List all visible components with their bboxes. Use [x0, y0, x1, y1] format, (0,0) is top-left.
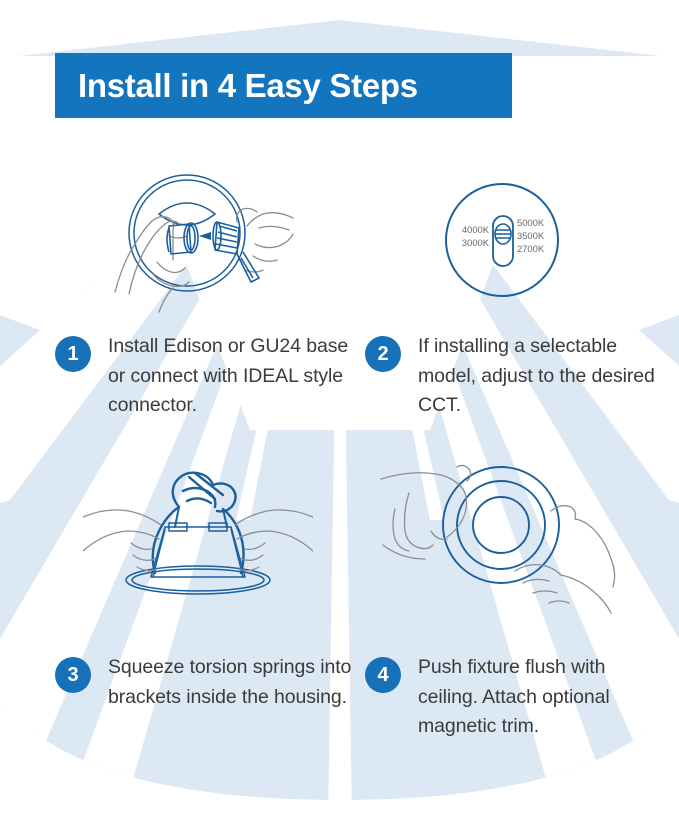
hands-squeezing-torsion-springs-icon — [83, 455, 313, 615]
step-4-badge: 4 — [365, 657, 401, 693]
step-4-caption: 4 Push fixture flush with ceiling. Attac… — [365, 653, 665, 742]
cct-left-label-1: 4000K — [462, 224, 490, 235]
step-3-badge: 3 — [55, 657, 91, 693]
step-3: 3 Squeeze torsion springs into brackets … — [55, 455, 355, 745]
step-3-text: Squeeze torsion springs into brackets in… — [108, 653, 355, 712]
step-2-text: If installing a selectable model, adjust… — [418, 332, 665, 421]
cct-left-label-2: 3000K — [462, 237, 490, 248]
step-1-caption: 1 Install Edison or GU24 base or connect… — [55, 332, 355, 421]
infographic-page: Install in 4 Easy Steps — [0, 0, 679, 824]
step-3-caption: 3 Squeeze torsion springs into brackets … — [55, 653, 355, 712]
step-2-badge: 2 — [365, 336, 401, 372]
step-2-caption: 2 If installing a selectable model, adju… — [365, 332, 665, 421]
title-banner: Install in 4 Easy Steps — [55, 53, 512, 118]
hands-connecting-socket-icon — [107, 170, 297, 315]
step-1: 1 Install Edison or GU24 base or connect… — [55, 170, 355, 420]
cct-selector-switch-icon: 4000K 3000K 5000K 3500K 2700K — [427, 178, 577, 308]
step-1-text: Install Edison or GU24 base or connect w… — [108, 332, 355, 421]
hands-pushing-fixture-flush-icon — [373, 455, 618, 620]
cct-right-label-2: 3500K — [517, 230, 545, 241]
cct-right-label-3: 2700K — [517, 243, 545, 254]
cct-right-label-1: 5000K — [517, 217, 545, 228]
step-1-badge: 1 — [55, 336, 91, 372]
page-title: Install in 4 Easy Steps — [78, 69, 418, 102]
step-2: 4000K 3000K 5000K 3500K 2700K 2 If insta… — [365, 170, 665, 420]
step-4: 4 Push fixture flush with ceiling. Attac… — [365, 455, 665, 745]
step-4-text: Push fixture flush with ceiling. Attach … — [418, 653, 665, 742]
